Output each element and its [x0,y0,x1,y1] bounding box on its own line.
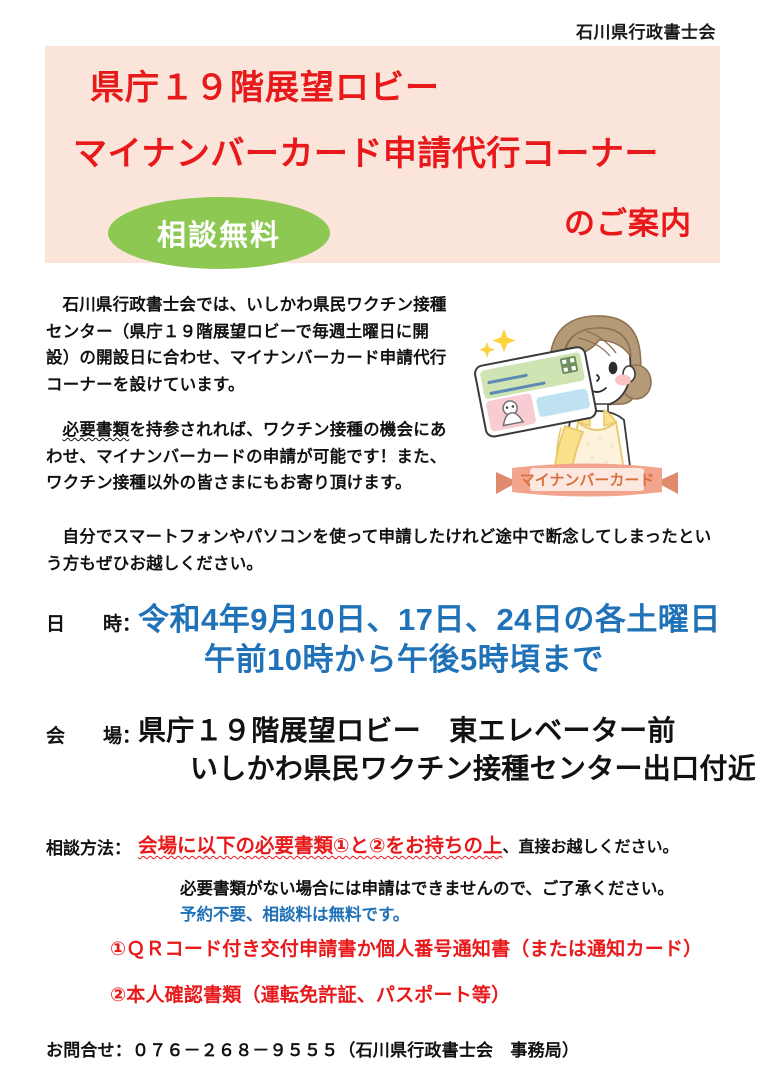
venue-label: 会 場： [46,712,138,748]
title-line-2: マイナンバーカード申請代行コーナー [73,126,659,175]
venue-value: 県庁１９階展望ロビー 東エレベーター前 いしかわ県民ワクチン接種センター出口付近 [138,712,756,787]
method-highlight: 会場に以下の必要書類①と②をお持ちの上 [138,835,503,857]
method-label: 相談方法： [46,832,138,859]
required-document-item-1: ①ＱＲコード付き交付申請書か個人番号通知書（または通知カード） [110,934,702,961]
contact-line: お問合せ：０７６－２６８－９５５５（石川県行政書士会 事務局） [46,1036,579,1061]
intro-underlined-term: 必要書類 [63,421,130,439]
method-note-black: 必要書類がない場合には申請はできませんので、ご了承ください。 [180,877,752,903]
datetime-row: 日 時： 令和4年9月10日、17日、24日の各土曜日 午前10時から午後5時頃… [46,600,746,679]
intro-paragraph-1: 石川県行政書士会では、いしかわ県民ワクチン接種センター（県庁１９階展望ロビーで毎… [46,292,450,399]
datetime-label: 日 時： [46,600,138,636]
required-document-item-2: ②本人確認書類（運転免許証、パスポート等） [110,980,510,1007]
venue-row: 会 場： 県庁１９階展望ロビー 東エレベーター前 いしかわ県民ワクチン接種センタ… [46,712,746,787]
venue-line-2: いしかわ県民ワクチン接種センター出口付近 [138,750,756,788]
datetime-line-2: 午前10時から午後5時頃まで [138,640,746,680]
sparkle-icon [479,329,515,358]
free-consultation-badge: 相談無料 [108,197,330,269]
cheek-right [615,375,631,386]
method-tail: 、直接お越しください。 [503,839,679,856]
card-ribbon-label: マイナンバーカード [520,472,655,489]
intro-column: 石川県行政書士会では、いしかわ県民ワクチン接種センター（県庁１９階展望ロビーで毎… [46,292,450,515]
eye-right [609,362,618,374]
free-consultation-badge-label: 相談無料 [157,212,281,254]
intro-paragraph-3: 自分でスマートフォンやパソコンを使って申請したけれど途中で断念してしまったという… [46,524,722,577]
method-note-blue: 予約不要、相談料は無料です。 [180,903,752,929]
method-row: 相談方法： 会場に以下の必要書類①と②をお持ちの上、直接お越しください。 必要書… [46,832,752,928]
datetime-value: 令和4年9月10日、17日、24日の各土曜日 午前10時から午後5時頃まで [138,600,746,679]
title-line-1: 県庁１９階展望ロビー [90,60,440,109]
method-value: 会場に以下の必要書類①と②をお持ちの上、直接お越しください。 必要書類がない場合… [138,832,752,928]
datetime-line-1: 令和4年9月10日、17日、24日の各土曜日 [138,600,746,640]
venue-line-1: 県庁１９階展望ロビー 東エレベーター前 [138,712,756,750]
method-main-line: 会場に以下の必要書類①と②をお持ちの上、直接お越しください。 [138,832,752,861]
title-line-3: のご案内 [564,198,692,243]
intro-paragraph-2: 必要書類を持参されれば、ワクチン接種の機会にあわせ、マイナンバーカードの申請が可… [46,417,450,497]
my-number-card-illustration: マイナンバーカード [466,296,734,508]
organization-name: 石川県行政書士会 [576,18,716,43]
